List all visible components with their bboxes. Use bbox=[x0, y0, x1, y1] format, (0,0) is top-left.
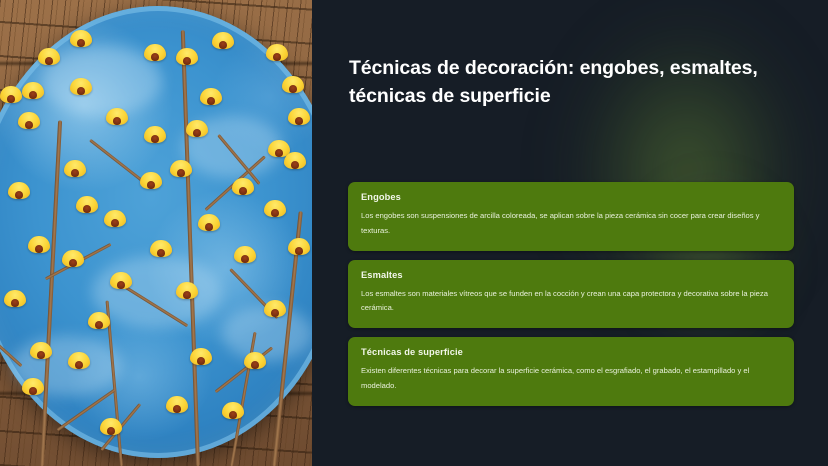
painted-flower bbox=[18, 112, 40, 129]
painted-flower bbox=[140, 172, 162, 189]
card-body: Los engobes son suspensiones de arcilla … bbox=[361, 209, 781, 239]
concept-card-esmaltes[interactable]: Esmaltes Los esmaltes son materiales vít… bbox=[348, 260, 794, 329]
painted-flower bbox=[244, 352, 266, 369]
concept-card-engobes[interactable]: Engobes Los engobes son suspensiones de … bbox=[348, 182, 794, 251]
painted-flower bbox=[190, 348, 212, 365]
concept-card-tecnicas-de-superficie[interactable]: Técnicas de superficie Existen diferente… bbox=[348, 337, 794, 406]
slide-image-panel bbox=[0, 0, 312, 466]
painted-flower bbox=[106, 108, 128, 125]
painted-flower bbox=[4, 290, 26, 307]
concept-card-list: Engobes Los engobes son suspensiones de … bbox=[348, 182, 794, 415]
painted-flower bbox=[144, 44, 166, 61]
painted-flower bbox=[176, 48, 198, 65]
painted-flower bbox=[198, 214, 220, 231]
painted-flower bbox=[88, 312, 110, 329]
painted-flower bbox=[28, 236, 50, 253]
card-title: Esmaltes bbox=[361, 270, 781, 280]
painted-flower bbox=[282, 76, 304, 93]
painted-flower bbox=[104, 210, 126, 227]
painted-flower bbox=[288, 238, 310, 255]
slide-title: Técnicas de decoración: engobes, esmalte… bbox=[349, 54, 801, 111]
card-body: Los esmaltes son materiales vítreos que … bbox=[361, 287, 781, 317]
painted-flower bbox=[222, 402, 244, 419]
painted-flower bbox=[288, 108, 310, 125]
painted-flower bbox=[110, 272, 132, 289]
painted-flower bbox=[30, 342, 52, 359]
painted-flower bbox=[200, 88, 222, 105]
painted-flower bbox=[234, 246, 256, 263]
painted-flower bbox=[64, 160, 86, 177]
painted-flower bbox=[284, 152, 306, 169]
painted-flower bbox=[266, 44, 288, 61]
painted-flower bbox=[264, 300, 286, 317]
painted-flower bbox=[150, 240, 172, 257]
card-title: Técnicas de superficie bbox=[361, 347, 781, 357]
painted-flower bbox=[186, 120, 208, 137]
painted-flower bbox=[212, 32, 234, 49]
painted-flower bbox=[62, 250, 84, 267]
painted-flower bbox=[166, 396, 188, 413]
painted-flower bbox=[70, 30, 92, 47]
painted-flower bbox=[76, 196, 98, 213]
painted-flower bbox=[22, 378, 44, 395]
painted-flower bbox=[170, 160, 192, 177]
glaze-highlight bbox=[92, 256, 222, 328]
painted-flower bbox=[264, 200, 286, 217]
painted-flower bbox=[232, 178, 254, 195]
slide-content-panel: Técnicas de decoración: engobes, esmalte… bbox=[312, 0, 828, 466]
card-title: Engobes bbox=[361, 192, 781, 202]
painted-flower bbox=[70, 78, 92, 95]
slide-root: Técnicas de decoración: engobes, esmalte… bbox=[0, 0, 828, 466]
painted-flower bbox=[176, 282, 198, 299]
painted-flower bbox=[8, 182, 30, 199]
painted-flower bbox=[68, 352, 90, 369]
painted-flower bbox=[38, 48, 60, 65]
painted-flower bbox=[100, 418, 122, 435]
painted-flower bbox=[22, 82, 44, 99]
painted-flower bbox=[144, 126, 166, 143]
painted-flower bbox=[0, 86, 22, 103]
card-body: Existen diferentes técnicas para decorar… bbox=[361, 364, 781, 394]
